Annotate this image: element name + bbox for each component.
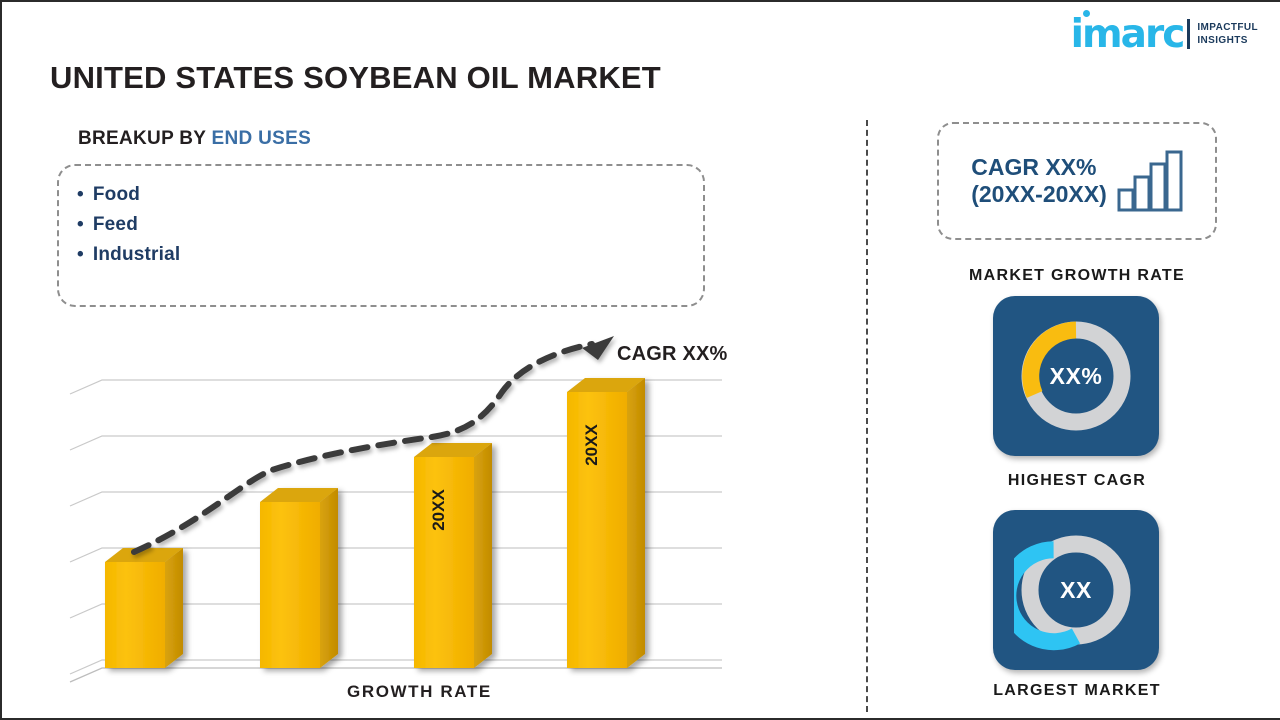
cagr-line-1: CAGR XX% [971,154,1107,181]
cagr-line-2: (20XX-20XX) [971,181,1107,208]
market-growth-rate-caption: MARKET GROWTH RATE [902,267,1252,285]
list-item: Industrial [77,240,703,270]
logo-divider-bar [1187,19,1190,49]
chart-axis-label: GROWTH RATE [347,682,492,702]
bar-chart-icon [1117,150,1183,212]
chart-svg: 20XX 20XX [62,332,762,712]
cagr-callout-label: CAGR XX% [617,343,728,366]
logo-wordmark: imarc [1071,15,1184,54]
donut-center-label-largest-market: XX [1060,577,1092,604]
list-item: Food [77,180,703,210]
logo-tagline-line2: INSIGHTS [1197,34,1258,48]
highest-cagr-caption: HIGHEST CAGR [902,472,1252,490]
highest-cagr-card: XX% [993,296,1159,456]
largest-market-caption: LARGEST MARKET [902,682,1252,700]
logo-tagline: IMPACTFUL INSIGHTS [1197,21,1258,48]
trendline-arrowhead [582,336,614,360]
logo-tagline-line1: IMPACTFUL [1197,21,1258,35]
list-item: Feed [77,210,703,240]
bar-4-label: 20XX [582,424,601,466]
breakup-list: Food Feed Industrial [59,166,703,270]
bar-1 [105,548,183,668]
donut-center-label-highest-cagr: XX% [1050,363,1103,390]
vertical-divider [866,120,868,712]
imarc-logo: imarc IMPACTFUL INSIGHTS [1071,14,1258,54]
largest-market-card: XX [993,510,1159,670]
page-title: UNITED STATES SOYBEAN OIL MARKET [50,60,661,96]
logo-dot-icon [1083,10,1090,17]
breakup-box: Food Feed Industrial [57,164,705,307]
chart-trendline [134,336,614,552]
logo-wordmark-text: imarc [1071,12,1184,57]
bar-4 [567,378,645,668]
growth-rate-bar-chart: 20XX 20XX [62,332,762,712]
chart-baseline [70,668,722,682]
bar-3 [414,443,492,668]
section-subtitle: BREAKUP BY END USES [78,128,311,150]
subtitle-highlight: END USES [212,128,312,149]
infographic-page: imarc IMPACTFUL INSIGHTS UNITED STATES S… [0,0,1280,720]
bar-3-label: 20XX [429,489,448,531]
cagr-text: CAGR XX% (20XX-20XX) [971,154,1107,208]
bar-2 [260,488,338,668]
market-growth-rate-card: CAGR XX% (20XX-20XX) [937,122,1217,240]
subtitle-prefix: BREAKUP BY [78,128,212,149]
